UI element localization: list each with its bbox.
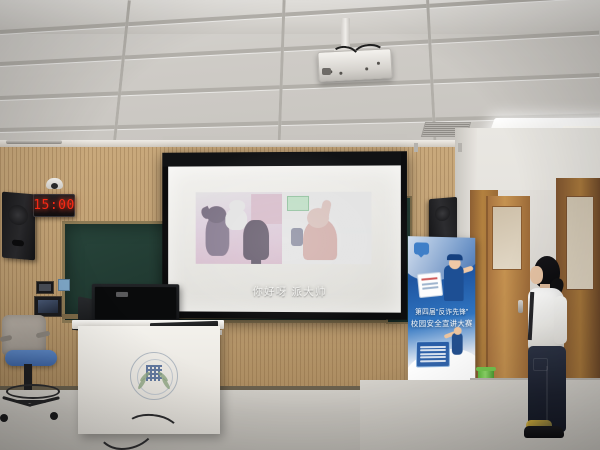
door-window bbox=[492, 206, 522, 270]
banner-leg bbox=[458, 143, 462, 152]
banner-title-line1: 第四届“反诈先锋” bbox=[411, 307, 472, 317]
person-face bbox=[530, 266, 543, 284]
camera-lens-icon bbox=[51, 183, 58, 189]
wall-trim bbox=[0, 140, 470, 147]
banner-text-box bbox=[416, 341, 450, 368]
led-wall-clock: 15:00 bbox=[33, 194, 75, 217]
screen-header-bar bbox=[162, 151, 407, 166]
projection-screen: 你好呀 派大帅 bbox=[162, 151, 407, 320]
wall-switch[interactable] bbox=[58, 279, 70, 291]
jeans-seam bbox=[546, 366, 548, 428]
classroom-scene: 15:00 bbox=[0, 0, 600, 450]
wall-control-panel[interactable] bbox=[36, 281, 54, 294]
banner-kid-head bbox=[454, 327, 462, 335]
clock-time: 15:00 bbox=[34, 195, 74, 216]
wall-speaker-left bbox=[2, 192, 35, 261]
person-arm bbox=[554, 296, 567, 344]
banner-title-line2: 校园安全宣讲大赛 bbox=[410, 318, 473, 329]
monitor-screen bbox=[95, 287, 177, 319]
chair-wheel bbox=[0, 414, 8, 422]
chair-wheel bbox=[50, 412, 58, 420]
banner-leg bbox=[414, 143, 418, 152]
cartoon-sign bbox=[287, 196, 309, 211]
projector-lens bbox=[322, 68, 331, 75]
cartoon-character-head bbox=[207, 206, 227, 223]
banner-kid-figure bbox=[452, 333, 463, 355]
video-split-line bbox=[282, 192, 284, 264]
banner-card-icon bbox=[417, 272, 443, 298]
video-subtitle: 你好呀 派大帅 bbox=[174, 284, 407, 300]
wall-control-panel[interactable] bbox=[34, 296, 62, 317]
screen-surface: 你好呀 派大帅 bbox=[168, 165, 401, 312]
banner-officer-figure bbox=[444, 265, 464, 301]
speaker-port bbox=[12, 239, 24, 246]
person-shoe bbox=[524, 426, 564, 438]
speech-bubble-icon bbox=[414, 242, 429, 254]
banner-base bbox=[6, 140, 62, 144]
cartoon-character-white-top bbox=[229, 200, 245, 212]
trash-bin-rim bbox=[476, 367, 496, 371]
cartoon-chair-leg bbox=[251, 252, 261, 264]
standing-person bbox=[520, 256, 578, 442]
cartoon-character-blue bbox=[291, 228, 303, 246]
monitor-brand-logo bbox=[116, 292, 128, 297]
chair-base bbox=[2, 396, 60, 408]
video-frame bbox=[196, 192, 372, 264]
police-cap-icon bbox=[447, 254, 463, 260]
roll-up-banner: 第四届“反诈先锋” 校园安全宣讲大赛 bbox=[408, 236, 475, 386]
